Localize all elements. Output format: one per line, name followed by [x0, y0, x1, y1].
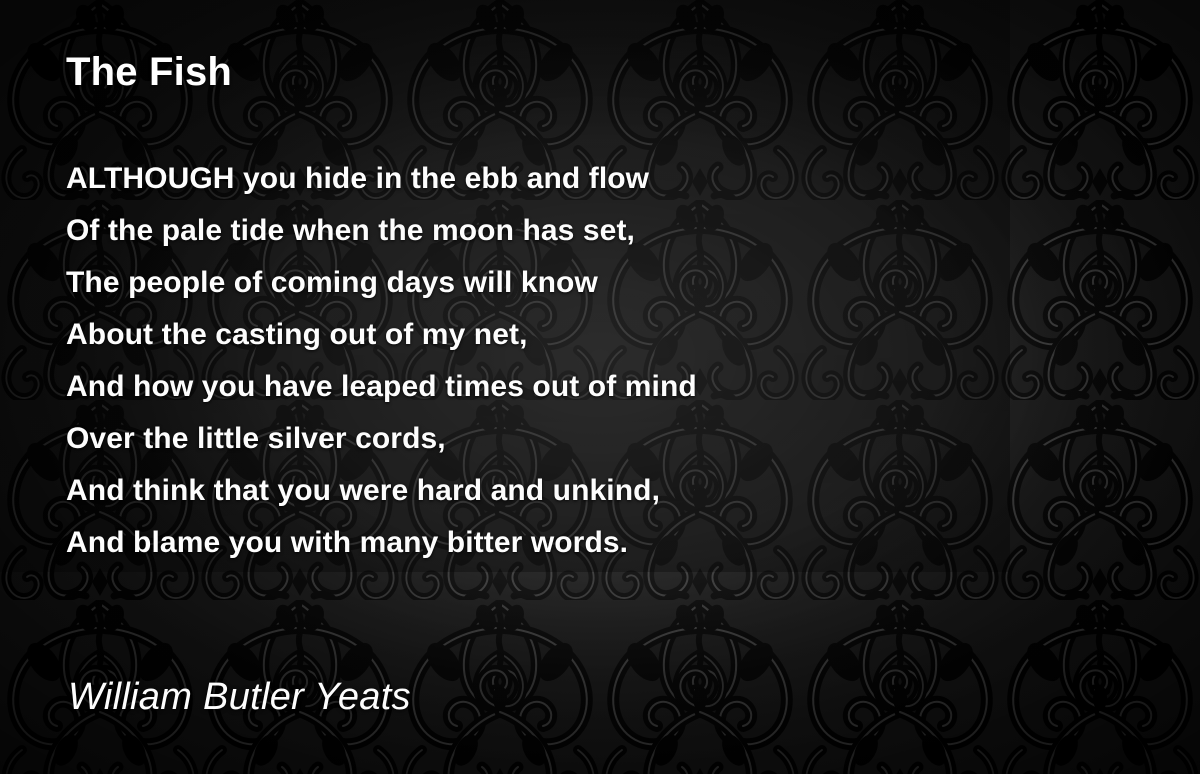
poem-line: Of the pale tide when the moon has set,	[66, 205, 966, 257]
poem-line: Over the little silver cords,	[66, 413, 966, 465]
poem-line: And how you have leaped times out of min…	[66, 361, 966, 413]
poem-line: And blame you with many bitter words.	[66, 517, 966, 569]
poem-content: The Fish ALTHOUGH you hide in the ebb an…	[0, 0, 1200, 774]
poem-line: ALTHOUGH you hide in the ebb and flow	[66, 153, 966, 205]
poem-line: And think that you were hard and unkind,	[66, 465, 966, 517]
page-title: The Fish	[66, 50, 232, 95]
poem-card: The Fish ALTHOUGH you hide in the ebb an…	[0, 0, 1200, 774]
poem-body: ALTHOUGH you hide in the ebb and flow Of…	[66, 153, 966, 569]
poem-author: William Butler Yeats	[68, 676, 411, 719]
poem-line: About the casting out of my net,	[66, 309, 966, 361]
poem-line: The people of coming days will know	[66, 257, 966, 309]
